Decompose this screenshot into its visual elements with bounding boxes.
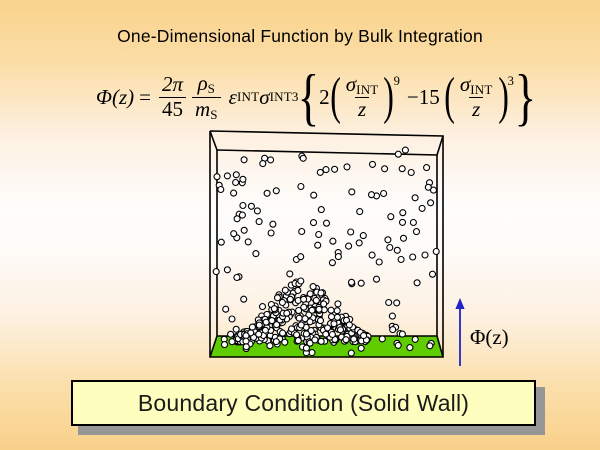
particle xyxy=(267,343,273,349)
epsilon-subscript: INT xyxy=(237,89,259,105)
particle xyxy=(388,214,394,220)
rho-symbol: ρ xyxy=(198,71,208,95)
particle xyxy=(268,230,274,236)
particle xyxy=(298,254,304,260)
formula-prefactor-fraction: 2π 45 xyxy=(159,74,186,120)
formula-density-numerator: ρS xyxy=(195,73,219,96)
particle xyxy=(313,297,319,303)
particle xyxy=(318,207,324,213)
box-front-face xyxy=(210,131,443,357)
particle xyxy=(321,301,327,307)
particle xyxy=(233,172,239,178)
particle xyxy=(323,167,329,173)
particle xyxy=(428,200,434,206)
particle xyxy=(325,325,331,331)
particle xyxy=(298,322,304,328)
formula-term1-exponent: 9 xyxy=(394,74,400,89)
particle xyxy=(311,192,317,198)
particle xyxy=(248,203,254,209)
formula-density-denominator: mS xyxy=(192,97,221,121)
particle xyxy=(318,318,324,324)
particle xyxy=(228,331,234,337)
particle xyxy=(273,188,279,194)
particle xyxy=(280,330,286,336)
particle xyxy=(253,251,259,257)
particle xyxy=(370,161,376,167)
particle xyxy=(224,267,230,273)
particle xyxy=(318,338,324,344)
particle xyxy=(334,308,340,314)
particle xyxy=(331,321,337,327)
particle xyxy=(390,327,396,333)
particle xyxy=(256,322,262,328)
particle xyxy=(348,229,354,235)
particle xyxy=(408,170,414,176)
particle xyxy=(254,208,260,214)
particle xyxy=(394,300,400,306)
particle-group xyxy=(213,147,439,356)
particle xyxy=(407,345,413,351)
particle xyxy=(412,336,418,342)
particle xyxy=(214,174,220,180)
particle xyxy=(422,252,428,258)
particle xyxy=(386,300,392,306)
particle xyxy=(358,280,364,286)
particle xyxy=(351,336,357,342)
particle xyxy=(240,176,246,182)
particle xyxy=(369,252,375,258)
particle xyxy=(298,184,304,190)
particle xyxy=(231,190,237,196)
sigma-subscript: INT xyxy=(270,89,292,105)
formula-bulk-integration: Φ(z) = 2π 45 ρS mS εINTσINT3 { 2 ( σINT … xyxy=(96,62,536,132)
particle xyxy=(324,220,330,226)
particle xyxy=(222,342,228,348)
particle xyxy=(357,209,363,215)
particle xyxy=(218,239,224,245)
molecular-simulation-box xyxy=(180,128,460,373)
particle xyxy=(234,275,240,281)
particle xyxy=(275,295,281,301)
particle xyxy=(338,327,344,333)
particle xyxy=(296,315,302,321)
particle xyxy=(241,227,247,233)
formula-term1-coefficient: 2 xyxy=(319,85,330,110)
particle xyxy=(335,254,341,260)
particle xyxy=(329,314,335,320)
particle xyxy=(410,254,416,260)
particle xyxy=(282,339,288,345)
particle xyxy=(414,229,420,235)
particle xyxy=(309,350,315,356)
particle xyxy=(300,155,306,161)
particle xyxy=(395,151,401,157)
formula-term2-open-paren: ( xyxy=(444,73,455,120)
particle xyxy=(256,219,262,225)
particle xyxy=(344,164,350,170)
particle xyxy=(263,319,269,325)
particle xyxy=(410,220,416,226)
slide-canvas: One-Dimensional Function by Bulk Integra… xyxy=(0,0,600,450)
particle xyxy=(348,350,354,356)
particle xyxy=(414,280,420,286)
particle xyxy=(328,307,334,313)
formula-term2-denominator: z xyxy=(469,97,483,120)
particle xyxy=(381,191,387,197)
caption-text: Boundary Condition (Solid Wall) xyxy=(138,390,469,417)
particle xyxy=(424,165,430,171)
formula-open-brace: { xyxy=(298,69,320,124)
particle xyxy=(346,322,352,328)
particle xyxy=(269,318,275,324)
arrow-head xyxy=(455,298,464,309)
formula-term2-exponent: 3 xyxy=(508,74,514,89)
particle xyxy=(394,247,400,253)
particle xyxy=(279,300,285,306)
particle xyxy=(282,287,288,293)
particle xyxy=(299,229,305,235)
particle xyxy=(295,338,301,344)
term1-sigma-subscript: INT xyxy=(356,82,378,97)
particle xyxy=(264,190,270,196)
box-wireframe xyxy=(210,131,443,357)
particle xyxy=(223,306,229,312)
particle xyxy=(213,269,219,275)
particle xyxy=(374,276,380,282)
particle xyxy=(334,314,340,320)
particle xyxy=(234,216,240,222)
particle xyxy=(433,249,439,255)
box-edge-tl xyxy=(210,131,217,150)
particle xyxy=(271,306,277,312)
particle xyxy=(318,290,324,296)
particle xyxy=(233,180,239,186)
particle xyxy=(287,271,293,277)
particle xyxy=(343,337,349,343)
particle xyxy=(224,173,230,179)
particle xyxy=(330,238,336,244)
particle xyxy=(379,336,385,342)
particle xyxy=(287,296,293,302)
particle xyxy=(289,326,295,332)
particle xyxy=(329,260,335,266)
formula-operator: −15 xyxy=(407,85,440,110)
formula-term1-numerator: σINT xyxy=(343,74,382,97)
particle xyxy=(240,203,246,209)
particle xyxy=(332,166,338,172)
particle xyxy=(316,306,322,312)
particle xyxy=(358,345,364,351)
particle xyxy=(273,339,279,345)
particle xyxy=(301,304,307,310)
particle xyxy=(329,332,335,338)
particle xyxy=(419,205,425,211)
particle xyxy=(311,220,317,226)
box-edge-tr xyxy=(437,136,443,155)
particle xyxy=(346,243,352,249)
particle xyxy=(369,192,375,198)
particle xyxy=(218,187,224,193)
particle xyxy=(361,333,367,339)
formula-lhs: Φ(z) xyxy=(96,85,134,110)
particle xyxy=(349,279,355,285)
particle xyxy=(400,219,406,225)
particle xyxy=(309,307,315,313)
particle xyxy=(317,169,323,175)
particle xyxy=(298,278,304,284)
particle xyxy=(249,324,255,330)
formula-term2-fraction: σINT z xyxy=(457,74,496,121)
particle xyxy=(382,166,388,172)
particle xyxy=(395,342,401,348)
particle xyxy=(270,221,276,227)
particle xyxy=(284,310,290,316)
particle xyxy=(294,332,300,338)
particle xyxy=(245,239,251,245)
particle xyxy=(302,316,308,322)
particle xyxy=(323,331,329,337)
particle xyxy=(241,157,247,163)
formula-prefactor-numerator: 2π xyxy=(159,74,186,96)
particle xyxy=(303,345,309,351)
particle xyxy=(427,343,433,349)
formula-term2-numerator: σINT xyxy=(457,74,496,97)
term2-sigma-subscript: INT xyxy=(470,82,492,97)
particle xyxy=(399,166,405,172)
particle xyxy=(260,161,266,167)
sigma-symbol: σ xyxy=(259,85,269,110)
particle xyxy=(360,233,366,239)
particle xyxy=(312,337,318,343)
particle xyxy=(385,237,391,243)
particle xyxy=(387,245,393,251)
formula-term1-denominator: z xyxy=(355,97,369,120)
particle xyxy=(231,231,237,237)
particle xyxy=(412,195,418,201)
formula-close-brace: } xyxy=(515,69,537,124)
particle xyxy=(399,331,405,337)
particle xyxy=(295,288,301,294)
mass-subscript: S xyxy=(210,106,217,121)
particle xyxy=(430,271,436,277)
caption-box: Boundary Condition (Solid Wall) xyxy=(71,380,536,426)
particle xyxy=(315,242,321,248)
particle xyxy=(425,184,431,190)
particle xyxy=(239,212,245,218)
particle xyxy=(310,284,316,290)
particle xyxy=(268,157,274,163)
formula-term1-fraction: σINT z xyxy=(343,74,382,121)
term1-sigma-symbol: σ xyxy=(346,72,356,96)
particle xyxy=(229,339,235,345)
particle xyxy=(349,189,355,195)
particle xyxy=(356,240,362,246)
particle xyxy=(243,344,249,350)
term2-sigma-symbol: σ xyxy=(460,72,470,96)
particle xyxy=(316,232,322,238)
particle xyxy=(241,296,247,302)
particle xyxy=(398,257,404,263)
particle xyxy=(262,327,268,333)
simulation-box-svg xyxy=(180,128,460,373)
rho-subscript: S xyxy=(208,81,215,96)
particle xyxy=(335,301,341,307)
particle xyxy=(401,235,407,241)
formula-term1-open-paren: ( xyxy=(330,73,341,120)
particle xyxy=(303,331,309,337)
formula-prefactor-denominator: 45 xyxy=(159,97,186,120)
formula-density-fraction: ρS mS xyxy=(192,73,221,120)
particle xyxy=(233,326,239,332)
mass-symbol: m xyxy=(195,97,210,121)
particle xyxy=(376,259,382,265)
phi-label: Φ(z) xyxy=(470,325,509,350)
formula-epsilon-sigma: εINTσINT3 xyxy=(229,85,299,110)
particle xyxy=(400,210,406,216)
page-title: One-Dimensional Function by Bulk Integra… xyxy=(0,26,600,47)
formula-equals: = xyxy=(139,85,151,110)
particle xyxy=(260,304,266,310)
particle xyxy=(229,316,235,322)
particle xyxy=(402,147,408,153)
particle xyxy=(389,313,395,319)
particle xyxy=(256,331,262,337)
epsilon-symbol: ε xyxy=(229,85,237,110)
particle xyxy=(301,296,307,302)
